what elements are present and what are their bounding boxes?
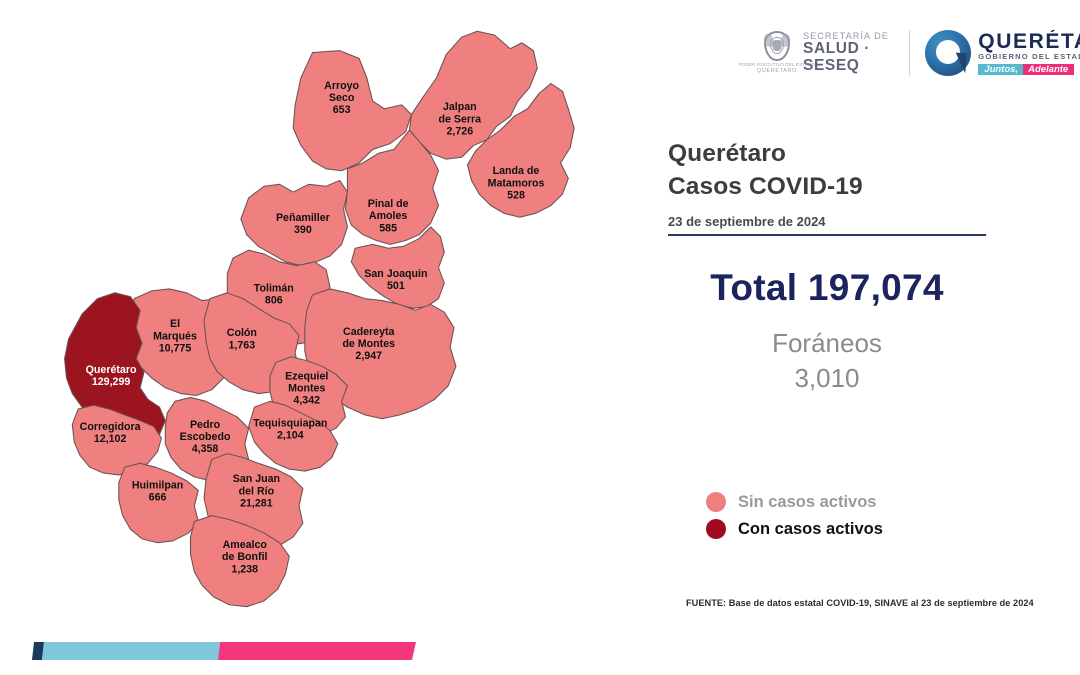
foraneos-value: 3,010 — [668, 361, 986, 396]
ribbon-navy-segment — [32, 642, 44, 660]
ribbon-cyan-segment — [42, 642, 220, 660]
title-line-1: Querétaro — [668, 138, 1068, 171]
seseq-logo: PODER EJECUTIVO DEL ESTADO QUERÉTARO SEC… — [760, 31, 893, 75]
queretaro-crest-icon: PODER EJECUTIVO DEL ESTADO QUERÉTARO — [760, 31, 794, 75]
crest-caption-small: PODER EJECUTIVO DEL ESTADO — [739, 62, 816, 68]
seseq-line2: SALUD · SESEQ — [803, 41, 893, 74]
queretaro-tagline: Juntos, Adelante — [978, 64, 1080, 76]
total-cases: Total 197,074 — [668, 267, 986, 309]
crest-caption-big: QUERÉTARO — [739, 68, 816, 75]
report-date: 23 de septiembre de 2024 — [668, 214, 986, 236]
logo-divider — [909, 30, 910, 76]
queretaro-wordmark: QUERÉTARO GOBIERNO DEL ESTADO Juntos, Ad… — [978, 31, 1080, 76]
map-svg: ArroyoSeco653Jalpande Serra2,726Landa de… — [10, 8, 650, 628]
title-line-2: Casos COVID-19 — [668, 171, 1068, 204]
source-note: FUENTE: Base de datos estatal COVID-19, … — [686, 598, 1034, 608]
legend-dot-no-active-cases — [706, 492, 726, 512]
decorative-ribbon — [30, 638, 420, 662]
queretaro-government-logo: QUERÉTARO GOBIERNO DEL ESTADO Juntos, Ad… — [925, 30, 1080, 76]
header-logo-strip: PODER EJECUTIVO DEL ESTADO QUERÉTARO SEC… — [760, 18, 1080, 88]
seseq-wordmark: SECRETARÍA DE SALUD · SESEQ — [803, 32, 893, 75]
municipality-shapes — [65, 31, 575, 606]
legend-item-sin-casos-activos: Sin casos activos — [706, 492, 883, 512]
tagline-part2: Adelante — [1023, 64, 1074, 76]
municipality-huimilpan[interactable] — [119, 463, 198, 542]
foraneos-label: Foráneos — [668, 326, 986, 361]
legend-item-con-casos-activos: Con casos activos — [706, 519, 883, 539]
legend-label-no-active-cases: Sin casos activos — [738, 493, 877, 512]
queretaro-municipalities-map: ArroyoSeco653Jalpande Serra2,726Landa de… — [10, 8, 650, 628]
legend-label-with-active-cases: Con casos activos — [738, 520, 883, 539]
summary-panel: Querétaro Casos COVID-19 23 de septiembr… — [668, 138, 1068, 396]
page-title: Querétaro Casos COVID-19 — [668, 138, 1068, 203]
queretaro-logo-name: QUERÉTARO — [978, 31, 1080, 52]
queretaro-logo-subtitle: GOBIERNO DEL ESTADO — [978, 53, 1080, 61]
infographic-page: PODER EJECUTIVO DEL ESTADO QUERÉTARO SEC… — [0, 0, 1080, 675]
legend-dot-with-active-cases — [706, 519, 726, 539]
tagline-part1: Juntos, — [978, 64, 1023, 76]
map-legend: Sin casos activos Con casos activos — [706, 492, 883, 546]
ribbon-pink-segment — [218, 642, 416, 660]
queretaro-q-mark-icon — [925, 30, 971, 76]
